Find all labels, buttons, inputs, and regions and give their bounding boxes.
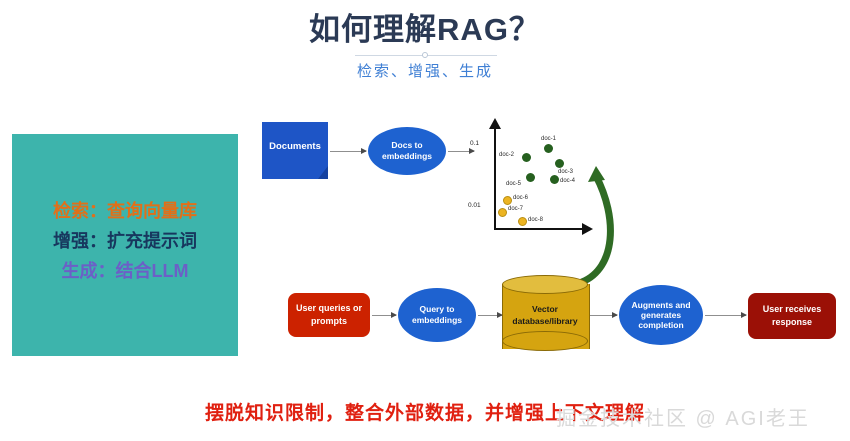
query-to-embeddings-node: Query to embeddings [398,288,476,342]
user-response-node: User receives response [748,293,836,339]
docs-to-embeddings-node: Docs to embeddings [368,127,446,175]
summary-line-generate: 生成：结合LLM [12,256,238,286]
arrow-documents-to-docsembeddings [330,151,366,152]
cylinder-bottom [502,331,588,351]
scatter-point-doc-2 [522,153,531,162]
arrow-vectordb-to-augments [590,315,617,316]
user-queries-node: User queries or prompts [288,293,370,337]
scatter-label-doc-5: doc-5 [506,181,521,187]
arrow-userqueries-to-queryembeddings [372,315,396,316]
slide-canvas: 如何理解RAG？ 检索、增强、生成 检索：查询向量库 增强：扩充提示词 生成：结… [0,0,850,441]
scatter-label-doc-8: doc-8 [528,217,543,223]
scatter-ytick-1: 0.01 [468,202,481,209]
scatter-point-doc-7 [498,208,507,217]
scatter-label-doc-2: doc-2 [499,152,514,158]
summary-line-retrieval: 检索：查询向量库 [12,196,238,226]
scatter-label-doc-7: doc-7 [508,206,523,212]
scatter-point-doc-6 [503,196,512,205]
augments-node: Augments and generates completion [619,285,703,345]
footer-statement: 摆脱知识限制，整合外部数据，并增强上下文理解 [0,398,850,425]
vector-database-node-label: Vector database/library [502,303,588,327]
title-divider [355,50,497,60]
page-subtitle: 检索、增强、生成 [0,60,850,81]
scatter-point-doc-5 [526,173,535,182]
summary-lines: 检索：查询向量库 增强：扩充提示词 生成：结合LLM [12,196,238,286]
scatter-y-axis-arrow-icon [489,118,501,129]
vector-db-feedback-arrow-icon [556,160,626,290]
summary-panel: 检索：查询向量库 增强：扩充提示词 生成：结合LLM [12,134,238,356]
summary-line-augment: 增强：扩充提示词 [12,226,238,256]
scatter-label-doc-1: doc-1 [541,136,556,142]
documents-node: Documents [262,122,328,179]
cylinder-top [502,275,588,294]
scatter-point-doc-1 [544,144,553,153]
scatter-label-doc-6: doc-6 [513,195,528,201]
scatter-point-doc-8 [518,217,527,226]
arrow-augments-to-response [705,315,746,316]
vector-database-node: Vector database/library [502,275,588,358]
divider-dot-icon [422,52,428,58]
documents-node-label: Documents [262,141,328,152]
page-title: 如何理解RAG？ [0,4,850,49]
scatter-y-axis [494,126,496,230]
arrow-queryembeddings-to-vectordb [478,315,502,316]
scatter-ytick-0: 0.1 [470,140,479,147]
